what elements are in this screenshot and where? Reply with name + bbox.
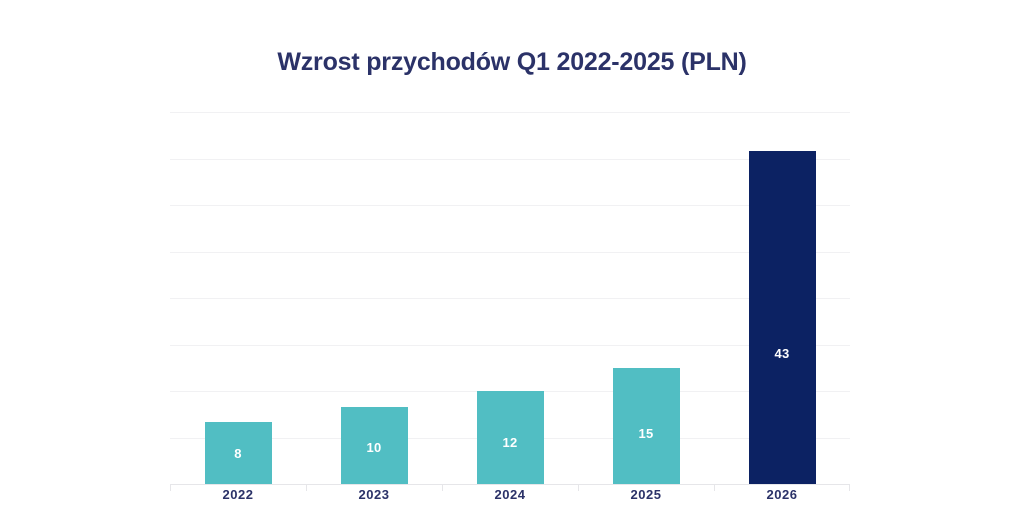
category-label-2022: 2022 [170,487,306,502]
category-label-2023: 2023 [306,487,442,502]
bar-group: 15 [613,112,680,484]
plot-bars: 810121543 [170,112,850,484]
bar-value-label-2023: 10 [341,440,408,455]
bar-group: 8 [205,112,272,484]
category-label-2024: 2024 [442,487,578,502]
x-axis-category-labels: 20222023202420252026 [170,487,850,517]
bar-group: 12 [477,112,544,484]
bar-value-label-2024: 12 [477,435,544,450]
chart-title: Wzrost przychodów Q1 2022-2025 (PLN) [0,48,1024,77]
chart-canvas: Wzrost przychodów Q1 2022-2025 (PLN) 810… [0,0,1024,531]
category-label-2026: 2026 [714,487,850,502]
bar-value-label-2022: 8 [205,446,272,461]
category-label-2025: 2025 [578,487,714,502]
x-axis-line [170,484,850,485]
bar-group: 43 [749,112,816,484]
bar-2026[interactable] [749,151,816,484]
bar-group: 10 [341,112,408,484]
bar-value-label-2026: 43 [749,346,816,361]
bar-value-label-2025: 15 [613,426,680,441]
